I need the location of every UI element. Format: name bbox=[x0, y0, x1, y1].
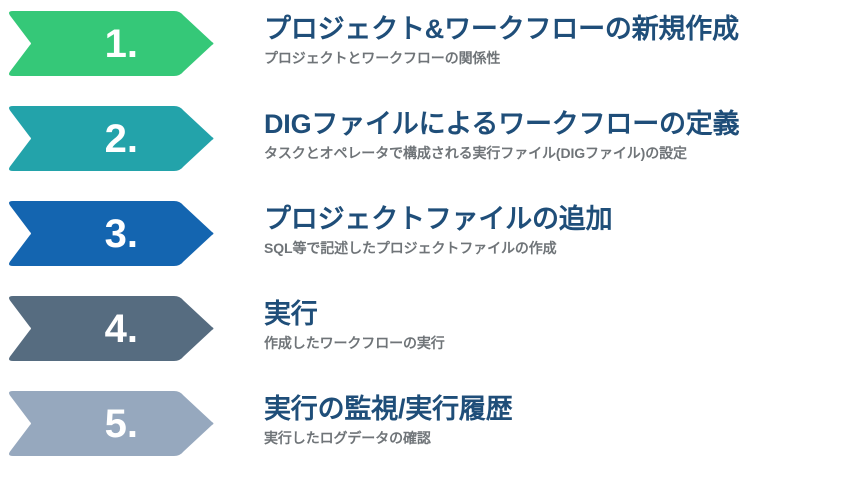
step-row: 4. 実行 作成したワークフローの実行 bbox=[0, 295, 858, 390]
steps-list: 1. プロジェクト&ワークフローの新規作成 プロジェクトとワークフローの関係性 … bbox=[0, 0, 858, 470]
step-title: 実行 bbox=[264, 297, 858, 331]
step-subtitle: SQL等で記述したプロジェクトファイルの作成 bbox=[264, 239, 858, 258]
step-text: 実行 作成したワークフローの実行 bbox=[232, 295, 858, 353]
step-text: プロジェクトファイルの追加 SQL等で記述したプロジェクトファイルの作成 bbox=[232, 200, 858, 258]
step-badge-4: 4. bbox=[0, 295, 232, 362]
step-row: 2. DIGファイルによるワークフローの定義 タスクとオペレータで構成される実行… bbox=[0, 105, 858, 200]
step-subtitle: タスクとオペレータで構成される実行ファイル(DIGファイル)の設定 bbox=[264, 144, 858, 163]
step-row: 3. プロジェクトファイルの追加 SQL等で記述したプロジェクトファイルの作成 bbox=[0, 200, 858, 295]
step-number: 2. bbox=[0, 105, 196, 172]
step-text: プロジェクト&ワークフローの新規作成 プロジェクトとワークフローの関係性 bbox=[232, 10, 858, 68]
step-title: 実行の監視/実行履歴 bbox=[264, 392, 858, 426]
step-badge-3: 3. bbox=[0, 200, 232, 267]
step-badge-5: 5. bbox=[0, 390, 232, 457]
step-number: 1. bbox=[0, 10, 196, 77]
step-subtitle: 作成したワークフローの実行 bbox=[264, 334, 858, 353]
step-badge-1: 1. bbox=[0, 10, 232, 77]
step-subtitle: プロジェクトとワークフローの関係性 bbox=[264, 49, 858, 68]
step-title: DIGファイルによるワークフローの定義 bbox=[264, 107, 858, 141]
step-row: 5. 実行の監視/実行履歴 実行したログデータの確認 bbox=[0, 390, 858, 485]
step-text: 実行の監視/実行履歴 実行したログデータの確認 bbox=[232, 390, 858, 448]
step-title: プロジェクトファイルの追加 bbox=[264, 202, 858, 236]
step-number: 4. bbox=[0, 295, 196, 362]
step-number: 5. bbox=[0, 390, 196, 457]
step-title: プロジェクト&ワークフローの新規作成 bbox=[264, 12, 858, 46]
step-subtitle: 実行したログデータの確認 bbox=[264, 429, 858, 448]
step-badge-2: 2. bbox=[0, 105, 232, 172]
step-text: DIGファイルによるワークフローの定義 タスクとオペレータで構成される実行ファイ… bbox=[232, 105, 858, 163]
step-number: 3. bbox=[0, 200, 196, 267]
step-row: 1. プロジェクト&ワークフローの新規作成 プロジェクトとワークフローの関係性 bbox=[0, 10, 858, 105]
